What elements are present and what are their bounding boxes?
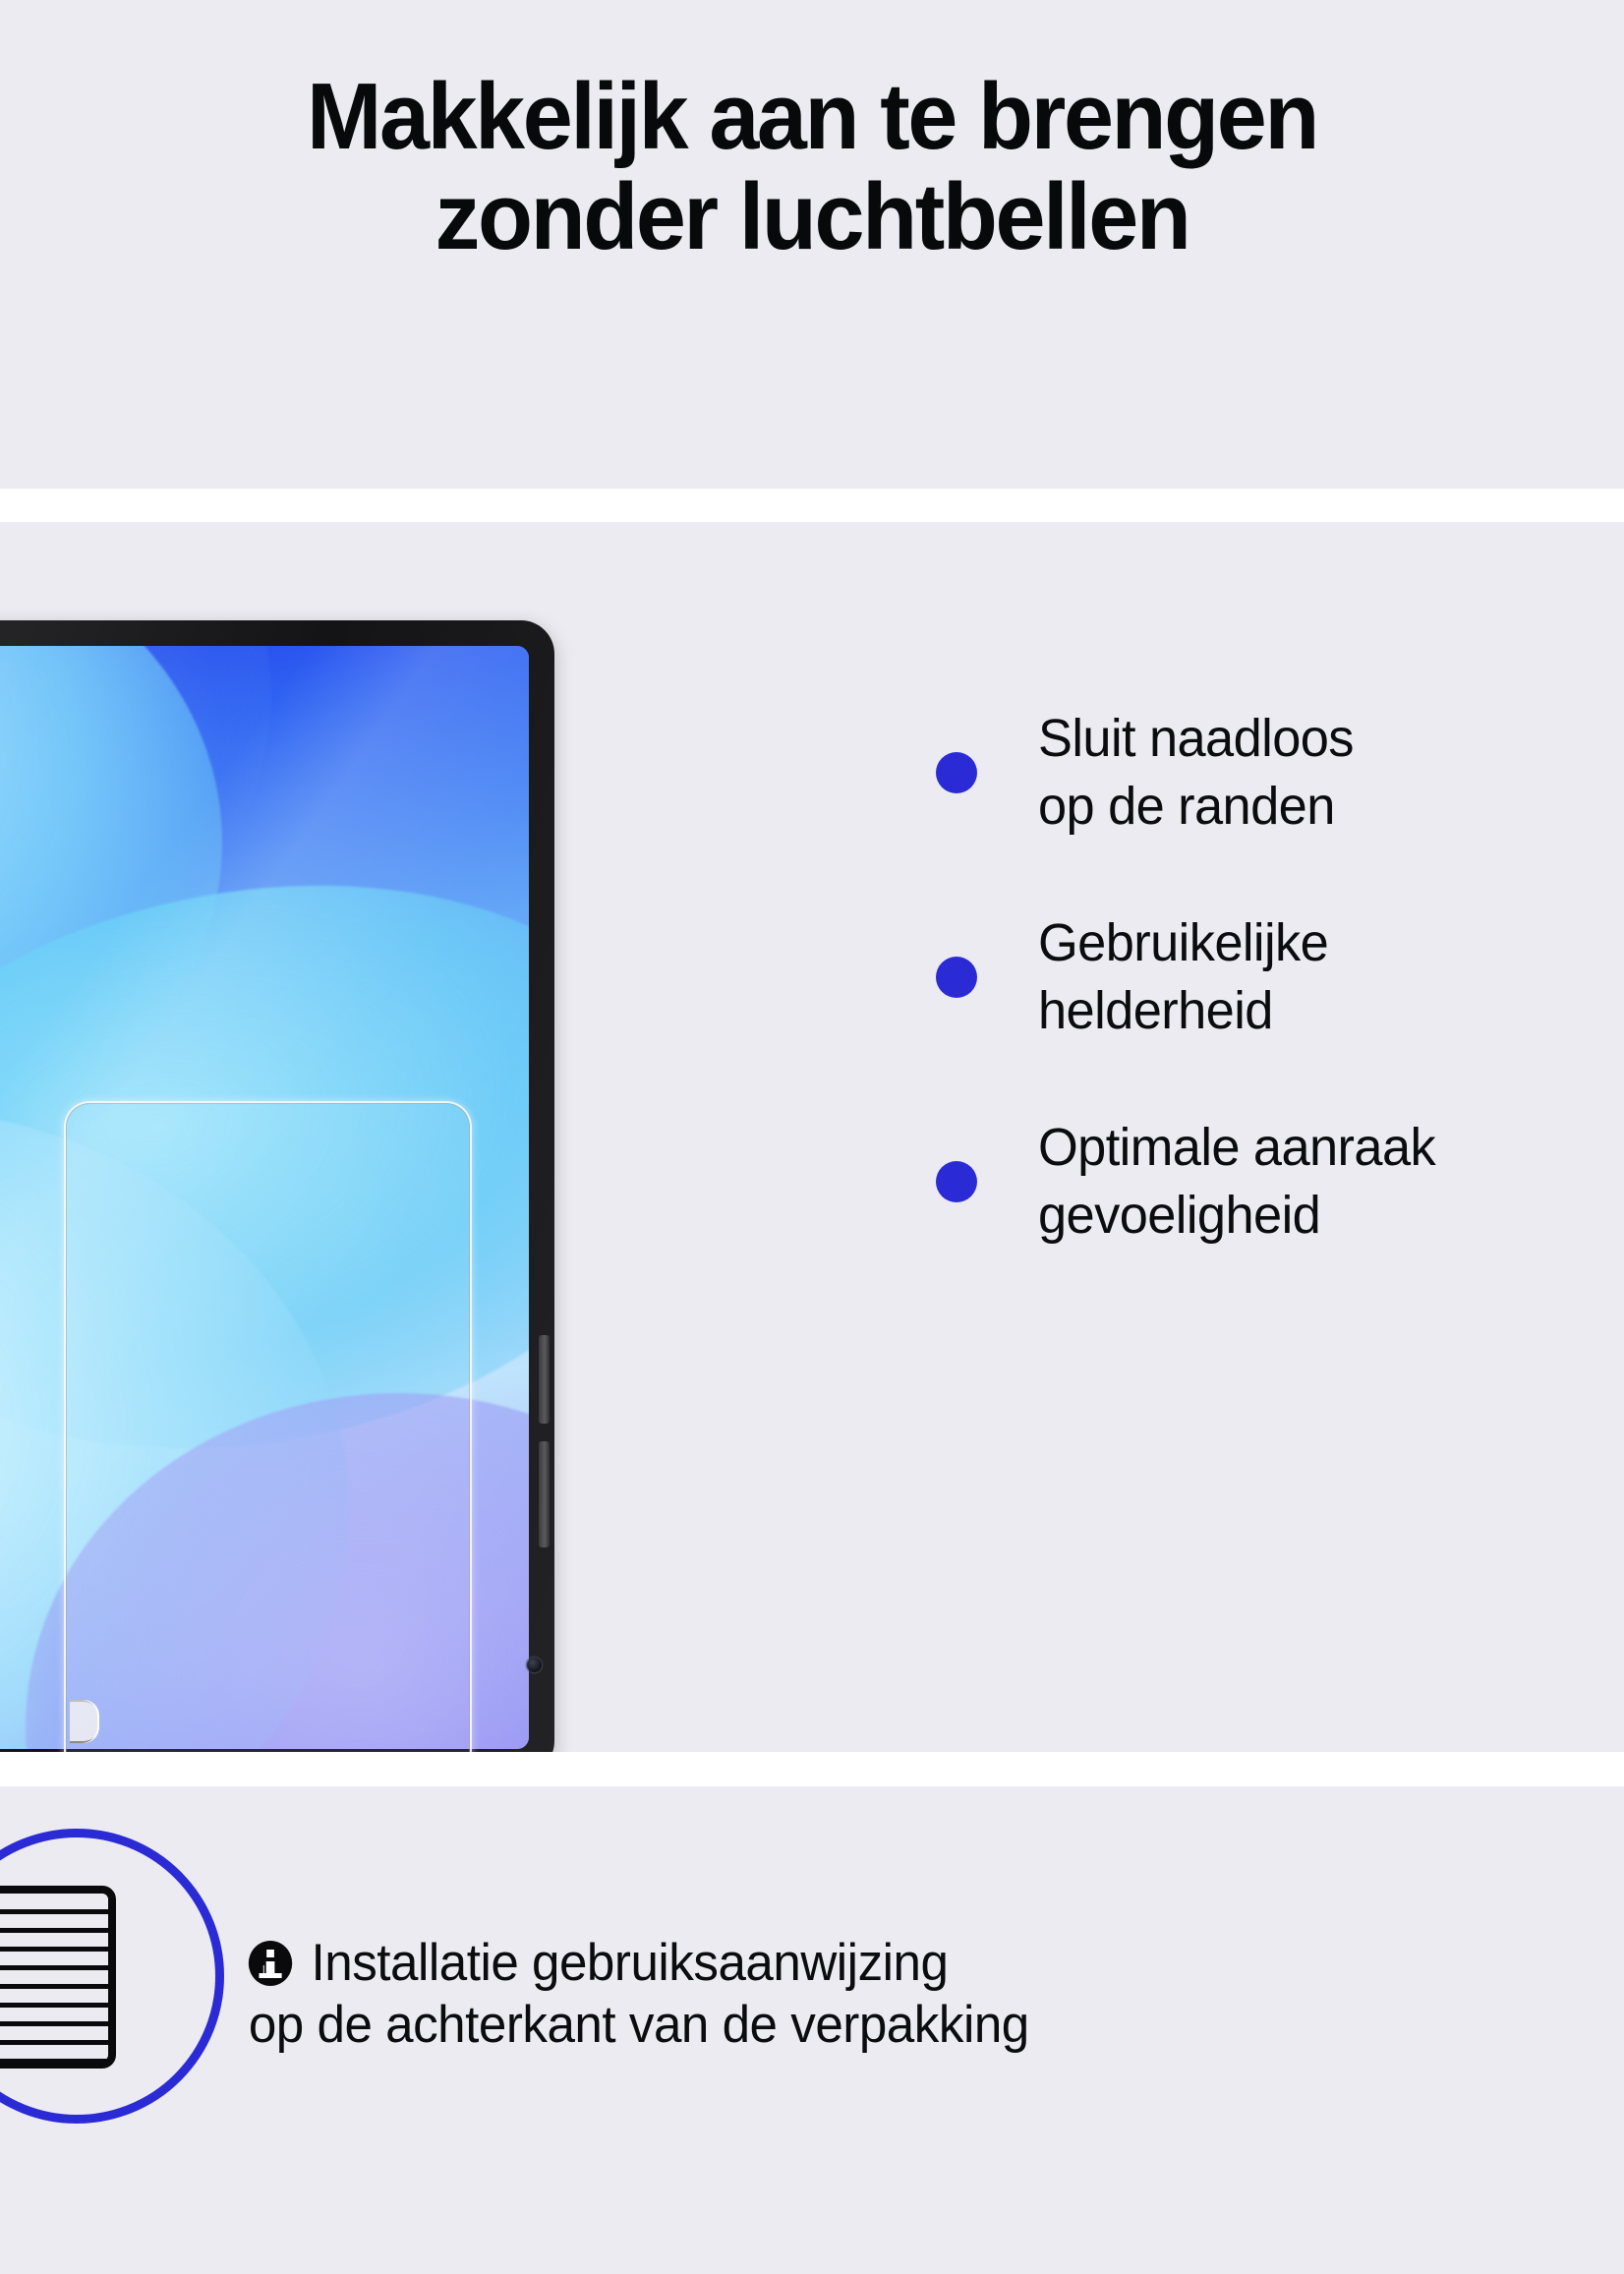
info-icon-base <box>259 1973 281 1978</box>
feature-list: Sluit naadloos op de randen Gebruikelijk… <box>936 699 1624 1312</box>
feature-label-3: Optimale aanraak gevoeligheid <box>1038 1114 1435 1249</box>
feature-label-2: Gebruikelijke helderheid <box>1038 909 1328 1044</box>
footer-text-block: Installatie gebruiksaanwijzing op de ach… <box>0 1934 1567 2055</box>
wallpaper-sheen <box>0 646 529 1749</box>
volume-button-icon[interactable] <box>539 1335 550 1424</box>
footer-panel: Installatie gebruiksaanwijzing op de ach… <box>0 1786 1624 2274</box>
bullet-dot-icon <box>936 957 977 998</box>
footer-line-1-row: Installatie gebruiksaanwijzing <box>249 1934 1567 1992</box>
doc-line <box>0 1909 108 1914</box>
feature-item-1: Sluit naadloos op de randen <box>936 699 1624 846</box>
page-title: Makkelijk aan te brengen zonder luchtbel… <box>5 67 1620 267</box>
bullet-dot-icon <box>936 752 977 793</box>
footer-line-1-text: Installatie gebruiksaanwijzing <box>312 1934 949 1992</box>
tablet-screen <box>0 646 529 1749</box>
heading-panel: Makkelijk aan te brengen zonder luchtbel… <box>0 0 1624 489</box>
front-camera-icon <box>527 1658 542 1672</box>
footer-line-2-text: op de achterkant van de verpakking <box>249 1996 1567 2054</box>
info-icon <box>249 1941 292 1986</box>
feature-item-2: Gebruikelijke helderheid <box>936 904 1624 1051</box>
feature-label-1: Sluit naadloos op de randen <box>1038 705 1354 840</box>
bullet-dot-icon <box>936 1161 977 1202</box>
product-infographic-page: Makkelijk aan te brengen zonder luchtbel… <box>0 0 1624 2274</box>
feature-panel: Sluit naadloos op de randen Gebruikelijk… <box>0 522 1624 1752</box>
power-button-icon[interactable] <box>539 1441 550 1547</box>
doc-line <box>0 2059 108 2064</box>
feature-item-3: Optimale aanraak gevoeligheid <box>936 1108 1624 1255</box>
screen-protector-camera-cutout <box>70 1700 99 1743</box>
tablet-body <box>0 620 554 1752</box>
doc-line <box>0 1928 108 1933</box>
tablet-illustration <box>0 620 560 1752</box>
